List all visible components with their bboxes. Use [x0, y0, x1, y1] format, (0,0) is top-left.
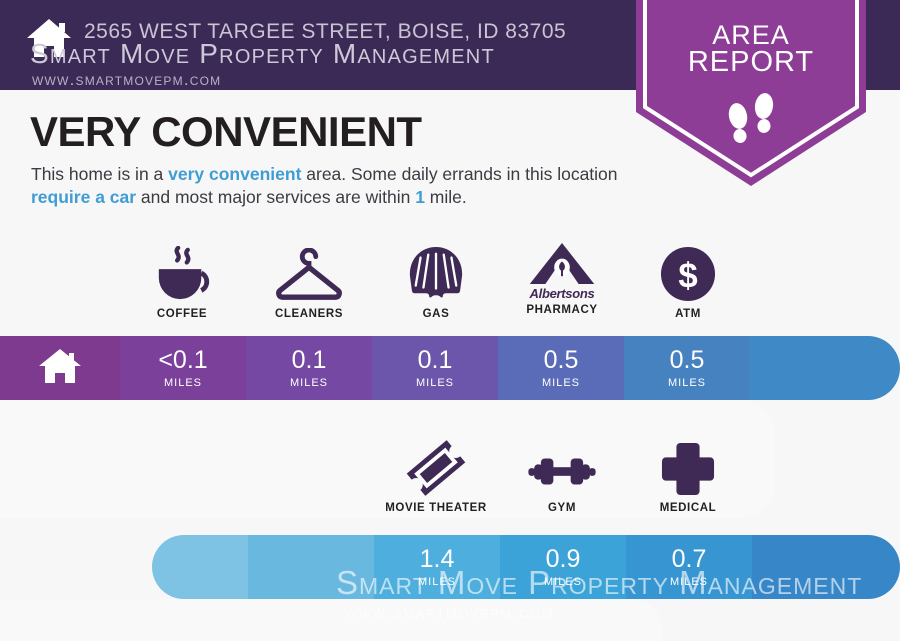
amenity-medical: MEDICAL: [625, 438, 751, 514]
home-marker-cell: [0, 336, 120, 400]
medical-cross-icon: [625, 438, 751, 496]
distance-unit: MILES: [416, 377, 454, 389]
distance-bar-2-tail: [752, 535, 900, 599]
amenity-label: CLEANERS: [246, 308, 372, 320]
distance-unit: MILES: [542, 377, 580, 389]
distance-cell-gas: 0.1 MILES: [372, 336, 498, 400]
summary-highlight-3: 1: [415, 187, 425, 207]
amenity-label: MEDICAL: [625, 502, 751, 514]
amenity-pharmacy: Albertsons PHARMACY: [499, 241, 625, 316]
summary-highlight-2: require a car: [31, 187, 136, 207]
badge-line-2: REPORT: [636, 46, 866, 79]
home-icon: [38, 346, 82, 391]
distance-value: 0.1: [292, 348, 327, 373]
summary-part-1: This home is in a: [31, 164, 168, 184]
amenity-label: PHARMACY: [499, 304, 625, 316]
content-card-2-fill: [0, 599, 225, 641]
distance-value: <0.1: [158, 348, 207, 373]
area-report-badge: AREA REPORT: [636, 0, 866, 186]
shell-logo-icon: [373, 244, 499, 302]
distance-unit: MILES: [668, 377, 706, 389]
movie-ticket-icon: [373, 438, 499, 496]
amenity-gas: GAS: [373, 244, 499, 320]
dollar-circle-icon: $: [625, 244, 751, 302]
footprints-icon: [724, 89, 780, 149]
distance-value: 0.9: [546, 547, 581, 572]
distance-cell-pharmacy: 0.5 MILES: [498, 336, 624, 400]
distance-unit: MILES: [670, 576, 708, 588]
distance-cell-cleaners: 0.1 MILES: [246, 336, 372, 400]
amenity-coffee: COFFEE: [119, 244, 245, 320]
summary-highlight-1: very convenient: [168, 164, 301, 184]
summary-part-3: and most major services are within: [136, 187, 415, 207]
distance-unit: MILES: [544, 576, 582, 588]
distance-bar-1: <0.1 MILES 0.1 MILES 0.1 MILES 0.5 MILES…: [0, 336, 900, 400]
distance-bar-2-head: [152, 535, 248, 599]
distance-unit: MILES: [290, 377, 328, 389]
distance-bar-1-tail: [750, 336, 900, 400]
distance-value: 0.5: [544, 348, 579, 373]
page-title: VERY CONVENIENT: [30, 108, 422, 156]
amenity-label: GAS: [373, 308, 499, 320]
distance-value: 1.4: [420, 547, 455, 572]
distance-cell-blank-2: [248, 535, 374, 599]
amenity-movie-theater: MOVIE THEATER: [373, 438, 499, 514]
albertsons-wordmark: Albertsons: [499, 286, 625, 301]
area-report-page: 2565 WEST TARGEE STREET, BOISE, ID 83705…: [0, 0, 900, 641]
distance-value: 0.1: [418, 348, 453, 373]
coffee-cup-icon: [119, 244, 245, 302]
header-website: www.smartmovepm.com: [32, 70, 221, 90]
distance-bar-2: 1.4 MILES 0.9 MILES 0.7 MILES: [152, 535, 900, 599]
distance-cell-movie-theater: 1.4 MILES: [374, 535, 500, 599]
distance-cell-atm: 0.5 MILES: [624, 336, 750, 400]
distance-cell-gym: 0.9 MILES: [500, 535, 626, 599]
summary-part-2: area. Some daily errands in this locatio…: [301, 164, 617, 184]
distance-unit: MILES: [164, 377, 202, 389]
distance-cell-medical: 0.7 MILES: [626, 535, 752, 599]
amenity-gym: GYM: [499, 438, 625, 514]
summary-text: This home is in a very convenient area. …: [31, 163, 641, 209]
distance-unit: MILES: [418, 576, 456, 588]
amenity-label: MOVIE THEATER: [373, 502, 499, 514]
amenity-label: ATM: [625, 308, 751, 320]
distance-value: 0.7: [672, 547, 707, 572]
distance-cell-coffee: <0.1 MILES: [120, 336, 246, 400]
svg-text:$: $: [678, 258, 697, 296]
amenity-cleaners: CLEANERS: [246, 244, 372, 320]
albertsons-logo-icon: [499, 241, 625, 285]
amenity-atm: $ ATM: [625, 244, 751, 320]
amenity-label: COFFEE: [119, 308, 245, 320]
summary-part-4: mile.: [425, 187, 467, 207]
header-company-name: Smart Move Property Management: [30, 38, 495, 70]
clothes-hanger-icon: [246, 244, 372, 302]
dumbbell-icon: [499, 438, 625, 496]
distance-value: 0.5: [670, 348, 705, 373]
amenity-label: GYM: [499, 502, 625, 514]
